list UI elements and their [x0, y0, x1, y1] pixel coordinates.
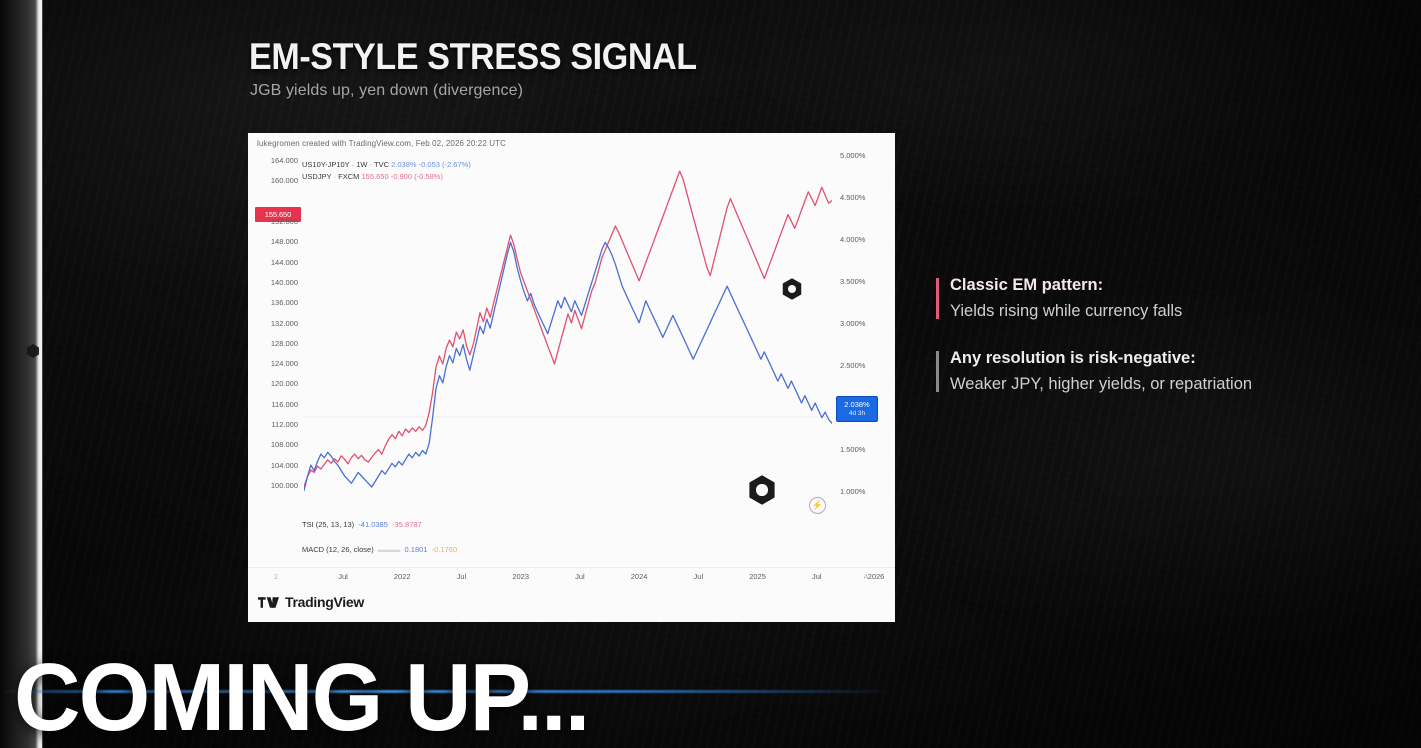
- y-axis-left-tick: 148.000: [252, 237, 298, 246]
- y-axis-left-tick: 164.000: [252, 156, 298, 165]
- y-axis-left-tick: 104.000: [252, 461, 298, 470]
- y-axis-left-tick: 108.000: [252, 440, 298, 449]
- x-axis-tick: 2023: [512, 572, 529, 581]
- callout-heading: Any resolution is risk-negative:: [950, 349, 1252, 368]
- hex-marker-icon: [26, 344, 40, 358]
- y-axis-left-tick: 136.000: [252, 298, 298, 307]
- x-axis-tick: 2025: [749, 572, 766, 581]
- price-badge-spread: 2.038% 4d 3h: [836, 396, 878, 422]
- indicator-value: -0.1760: [432, 545, 457, 554]
- indicator-row-macd[interactable]: MACD (12, 26, close) ▬▬▬ 0.1801 -0.1760: [302, 545, 457, 554]
- plot-area[interactable]: [304, 153, 832, 518]
- tradingview-wordmark: TradingView: [285, 594, 364, 610]
- y-axis-left-tick: 140.000: [252, 278, 298, 287]
- page-title: EM-STYLE STRESS SIGNAL: [249, 36, 697, 78]
- x-axis-tick: Jul: [812, 572, 822, 581]
- y-axis-left-tick: 152.000: [252, 217, 298, 226]
- callout-accent-bar: [936, 351, 939, 392]
- x-axis-edge-tick: A: [863, 572, 868, 581]
- y-axis-right-tick: 3.000%: [840, 319, 882, 328]
- callout-body: Yields rising while currency falls: [950, 302, 1182, 321]
- x-axis-dates[interactable]: Jul2022Jul2023Jul2024Jul2025Jul20262A: [248, 567, 895, 585]
- y-axis-left-tick: 124.000: [252, 359, 298, 368]
- left-edge-strip: [0, 0, 44, 748]
- y-axis-right-tick: 2.500%: [840, 361, 882, 370]
- price-series-svg: [304, 153, 832, 518]
- callout-heading: Classic EM pattern:: [950, 276, 1182, 295]
- y-axis-right-tick: 5.000%: [840, 151, 882, 160]
- indicator-value: -35.8787: [392, 520, 422, 529]
- x-axis-tick: Jul: [338, 572, 348, 581]
- y-axis-right-tick: 4.500%: [840, 193, 882, 202]
- y-axis-left-tick: 100.000: [252, 481, 298, 490]
- page-subtitle: JGB yields up, yen down (divergence): [250, 82, 523, 100]
- chart-credit: lukegromen created with TradingView.com,…: [257, 139, 506, 148]
- indicator-row-tsi[interactable]: TSI (25, 13, 13) -41.0385 -35.8787: [302, 520, 422, 529]
- callout-risk-negative: Any resolution is risk-negative: Weaker …: [936, 349, 1252, 394]
- price-badge-countdown: 4d 3h: [849, 410, 865, 417]
- tradingview-logo-icon: [258, 596, 279, 609]
- indicator-name: TSI (25, 13, 13): [302, 520, 354, 529]
- y-axis-left-tick: 128.000: [252, 339, 298, 348]
- tradingview-branding: TradingView: [258, 594, 364, 610]
- indicator-value: 0.1801: [405, 545, 428, 554]
- x-axis-tick: Jul: [457, 572, 467, 581]
- series-line-spread: [304, 242, 832, 490]
- y-axis-right-tick: 4.000%: [840, 235, 882, 244]
- callout-accent-bar: [936, 278, 939, 319]
- y-axis-left-tick: 144.000: [252, 258, 298, 267]
- tradingview-chart-card[interactable]: lukegromen created with TradingView.com,…: [248, 133, 895, 622]
- y-axis-right-tick: 3.500%: [840, 277, 882, 286]
- indicator-value: -41.0385: [358, 520, 388, 529]
- callout-classic-em-pattern: Classic EM pattern: Yields rising while …: [936, 276, 1182, 321]
- indicator-histogram: ▬▬▬: [378, 545, 401, 554]
- x-axis-tick: Jul: [575, 572, 585, 581]
- x-axis-edge-tick: 2: [274, 572, 278, 581]
- x-axis-tick: 2026: [868, 572, 885, 581]
- lightning-circle-icon[interactable]: ⚡: [809, 497, 826, 514]
- price-badge-value: 2.038%: [844, 401, 869, 410]
- y-axis-left-tick: 132.000: [252, 319, 298, 328]
- y-axis-left-tick: 116.000: [252, 400, 298, 409]
- y-axis-left-tick: 112.000: [252, 420, 298, 429]
- y-axis-right-tick: 1.500%: [840, 445, 882, 454]
- indicator-name: MACD (12, 26, close): [302, 545, 374, 554]
- y-axis-left-tick: 120.000: [252, 379, 298, 388]
- coming-up-banner: COMING UP...: [14, 643, 588, 748]
- y-axis-left-tick: 160.000: [252, 176, 298, 185]
- x-axis-tick: 2022: [394, 572, 411, 581]
- series-line-usdjpy: [304, 171, 832, 486]
- y-axis-right-tick: 1.000%: [840, 487, 882, 496]
- x-axis-tick: 2024: [631, 572, 648, 581]
- x-axis-tick: Jul: [694, 572, 704, 581]
- callout-body: Weaker JPY, higher yields, or repatriati…: [950, 375, 1252, 394]
